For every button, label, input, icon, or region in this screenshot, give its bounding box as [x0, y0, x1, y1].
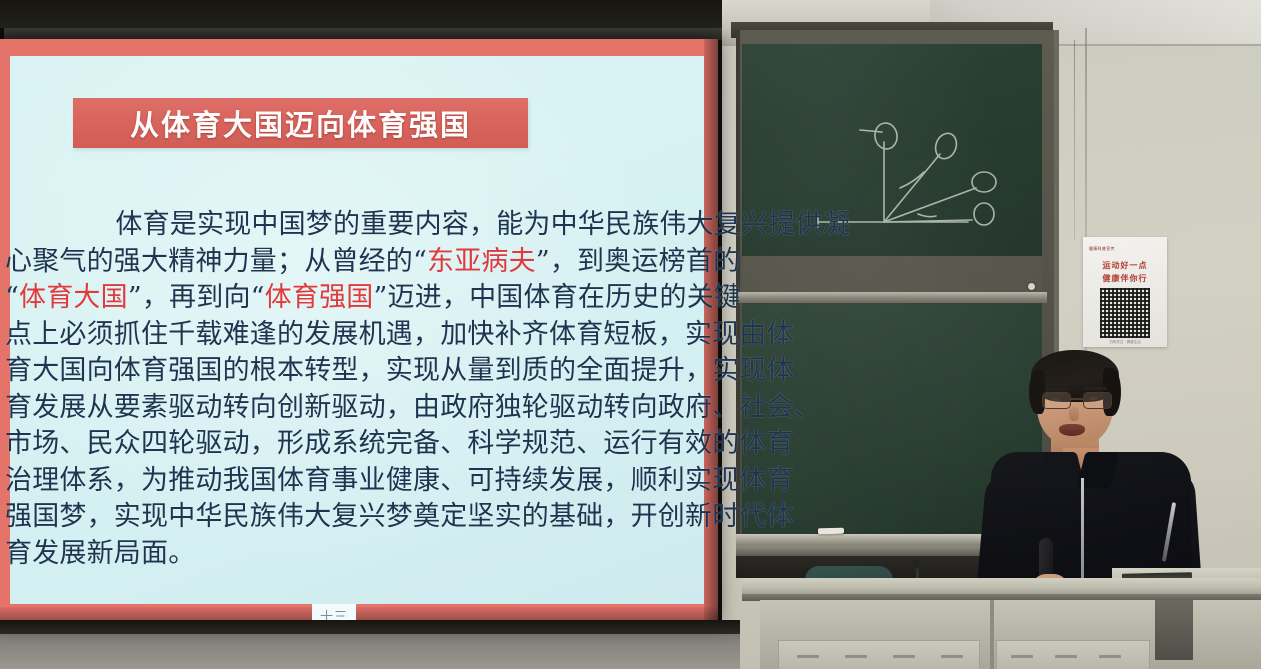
- chalk-stick[interactable]: [818, 528, 844, 535]
- slide-body-text: 体育是实现中国梦的重要内容，能为中华民族伟大复兴提供凝心聚气的强大精神力量；从曾…: [5, 207, 705, 572]
- slide-body-line: 育大国向体育强国的根本转型，实现从量到质的全面提升，实现体: [5, 353, 705, 390]
- desk-microphone-head[interactable]: [913, 560, 921, 568]
- qr-code-icon[interactable]: [1100, 288, 1150, 338]
- glasses-bridge: [1069, 398, 1083, 400]
- nose: [1069, 407, 1079, 421]
- upper-dark-band: [0, 0, 722, 30]
- slide-body-line: 心聚气的强大精神力量；从曾经的“东亚病夫”，到奥运榜首的: [5, 244, 705, 281]
- cabinet-alcove: [1155, 600, 1193, 660]
- slide-body-line: “体育大国”，再到向“体育强国”迈进，中国体育在历史的关键: [5, 280, 705, 317]
- poster-headline-1: 运动好一点: [1083, 260, 1167, 271]
- cabinet-drawer-right[interactable]: [996, 640, 1150, 669]
- text-run: 市场、民众四轮驱动，形成系统完备、科学规范、运行有效的体育: [5, 428, 794, 459]
- slide-body-line: 强国梦，实现中华民族伟大复兴梦奠定坚实的基础，开创新时代体: [5, 499, 705, 536]
- text-run: 心聚气的强大精神力量；从曾经的: [5, 246, 413, 277]
- lecture-room-photo: 健康科普宣传 运动好一点 健康伴你行 扫码关注 · 健康生活: [0, 0, 1261, 669]
- cabinet-drawer-left[interactable]: [778, 640, 980, 669]
- slide-body-line: 市场、民众四轮驱动，形成系统完备、科学规范、运行有效的体育: [5, 426, 705, 463]
- highlighted-phrase: 体育大国: [19, 282, 128, 313]
- text-run: 育大国向体育强国的根本转型，实现从量到质的全面提升，实现体: [5, 355, 794, 386]
- text-run: ，到奥运榜首的: [550, 246, 740, 277]
- text-run: “: [413, 246, 427, 277]
- blackboard-knob[interactable]: [1028, 283, 1035, 290]
- text-run: 治理体系，为推动我国体育事业健康、可持续发展，顺利实现体育: [5, 465, 794, 496]
- text-run: ”: [128, 282, 142, 313]
- wall-cable: [1074, 40, 1075, 240]
- slide-title-banner: 从体育大国迈向体育强国: [73, 98, 528, 148]
- slide-body-line: 育发展新局面。: [5, 536, 705, 573]
- highlighted-phrase: 体育强国: [265, 282, 374, 313]
- text-run: “: [5, 282, 19, 313]
- slide-body-line: 育发展从要素驱动转向创新驱动，由政府独轮驱动转向政府、社会、: [5, 390, 705, 427]
- text-run: 体育是实现中国梦的重要内容，能为中华民族伟大复兴提供凝: [61, 209, 850, 240]
- poster-headline-2: 健康伴你行: [1083, 273, 1167, 284]
- lens-right: [1083, 392, 1112, 409]
- text-run: 强国梦，实现中华民族伟大复兴梦奠定坚实的基础，开创新时代体: [5, 501, 794, 532]
- lens-left: [1042, 392, 1071, 409]
- highlighted-phrase: 东亚病夫: [427, 246, 536, 277]
- text-run: 点上必须抓住千载难逢的发展机遇，加快补齐体育短板，实现由体: [5, 319, 794, 350]
- slide-title: 从体育大国迈向体育强国: [130, 102, 471, 144]
- floor: [0, 628, 740, 669]
- text-run: ”: [536, 246, 550, 277]
- glasses-icon: [1041, 392, 1111, 407]
- cabinet-divider: [990, 600, 994, 669]
- text-run: 育发展新局面。: [5, 538, 195, 569]
- blackboard-rail: [738, 292, 1047, 303]
- health-poster[interactable]: 健康科普宣传 运动好一点 健康伴你行 扫码关注 · 健康生活: [1083, 237, 1167, 347]
- slide-body-line: 点上必须抓住千载难逢的发展机遇，加快补齐体育短板，实现由体: [5, 317, 705, 354]
- eyebrow-right: [1083, 387, 1107, 390]
- poster-footer: 扫码关注 · 健康生活: [1083, 340, 1167, 345]
- text-run: 迈进，中国体育在历史的关键: [388, 282, 742, 313]
- text-run: “: [251, 282, 265, 313]
- text-run: 育发展从要素驱动转向创新驱动，由政府独轮驱动转向政府、社会、: [5, 392, 821, 423]
- screen-bottom-shadow: [0, 620, 740, 634]
- mouth: [1059, 424, 1085, 436]
- text-run: ”: [373, 282, 387, 313]
- slide-body-line: 治理体系，为推动我国体育事业健康、可持续发展，顺利实现体育: [5, 463, 705, 500]
- poster-logo: 健康科普宣传: [1089, 246, 1115, 252]
- slide-body-line: 体育是实现中国梦的重要内容，能为中华民族伟大复兴提供凝: [5, 207, 705, 244]
- eyebrow-left: [1045, 388, 1069, 391]
- text-run: ，再到向: [142, 282, 251, 313]
